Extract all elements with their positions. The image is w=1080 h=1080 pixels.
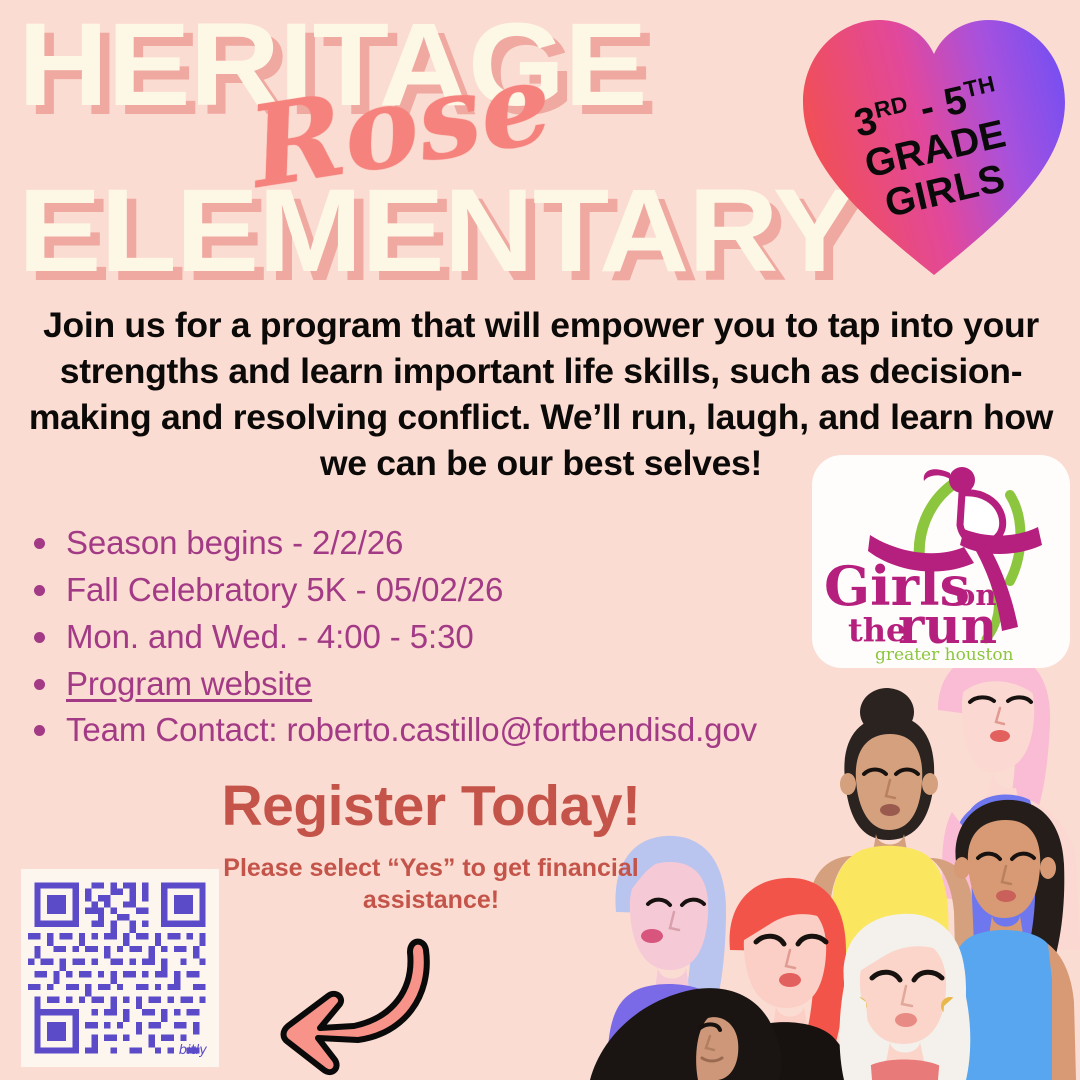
logo-locality: greater houston (875, 645, 1014, 665)
white-hair-woman (840, 914, 971, 1080)
long-black-hair-woman (590, 988, 782, 1080)
curved-arrow-icon (262, 930, 442, 1080)
qr-code[interactable]: bitly (21, 869, 219, 1067)
register-headline: Register Today! (196, 778, 666, 835)
flyer-poster: HERITAGE ELEMENTARY Rose 3RD - 5TH GRADE… (0, 0, 1080, 1080)
grade-range-start-ordinal: RD (872, 92, 910, 124)
detail-meeting-days: Mon. and Wed. - 4:00 - 5:30 (66, 618, 474, 655)
register-subtext: Please select “Yes” to get financial ass… (196, 852, 666, 916)
list-item: Season begins - 2/2/26 (24, 520, 804, 567)
grade-heart-badge: 3RD - 5TH GRADE GIRLS (795, 4, 1073, 282)
girls-on-the-run-logo: Girls on the run greater houston (812, 455, 1070, 668)
detail-celebratory-5k: Fall Celebratory 5K - 05/02/26 (66, 571, 503, 608)
program-website-link[interactable]: Program website (66, 665, 312, 702)
register-callout: Register Today! Please select “Yes” to g… (196, 778, 666, 916)
grade-range-end-ordinal: TH (962, 71, 998, 102)
qr-code-modules (28, 876, 212, 1060)
qr-provider-label: bitly (179, 1043, 207, 1058)
list-item: Fall Celebratory 5K - 05/02/26 (24, 567, 804, 614)
detail-season-begins: Season begins - 2/2/26 (66, 524, 403, 561)
school-name-line2: ELEMENTARY (18, 172, 855, 290)
